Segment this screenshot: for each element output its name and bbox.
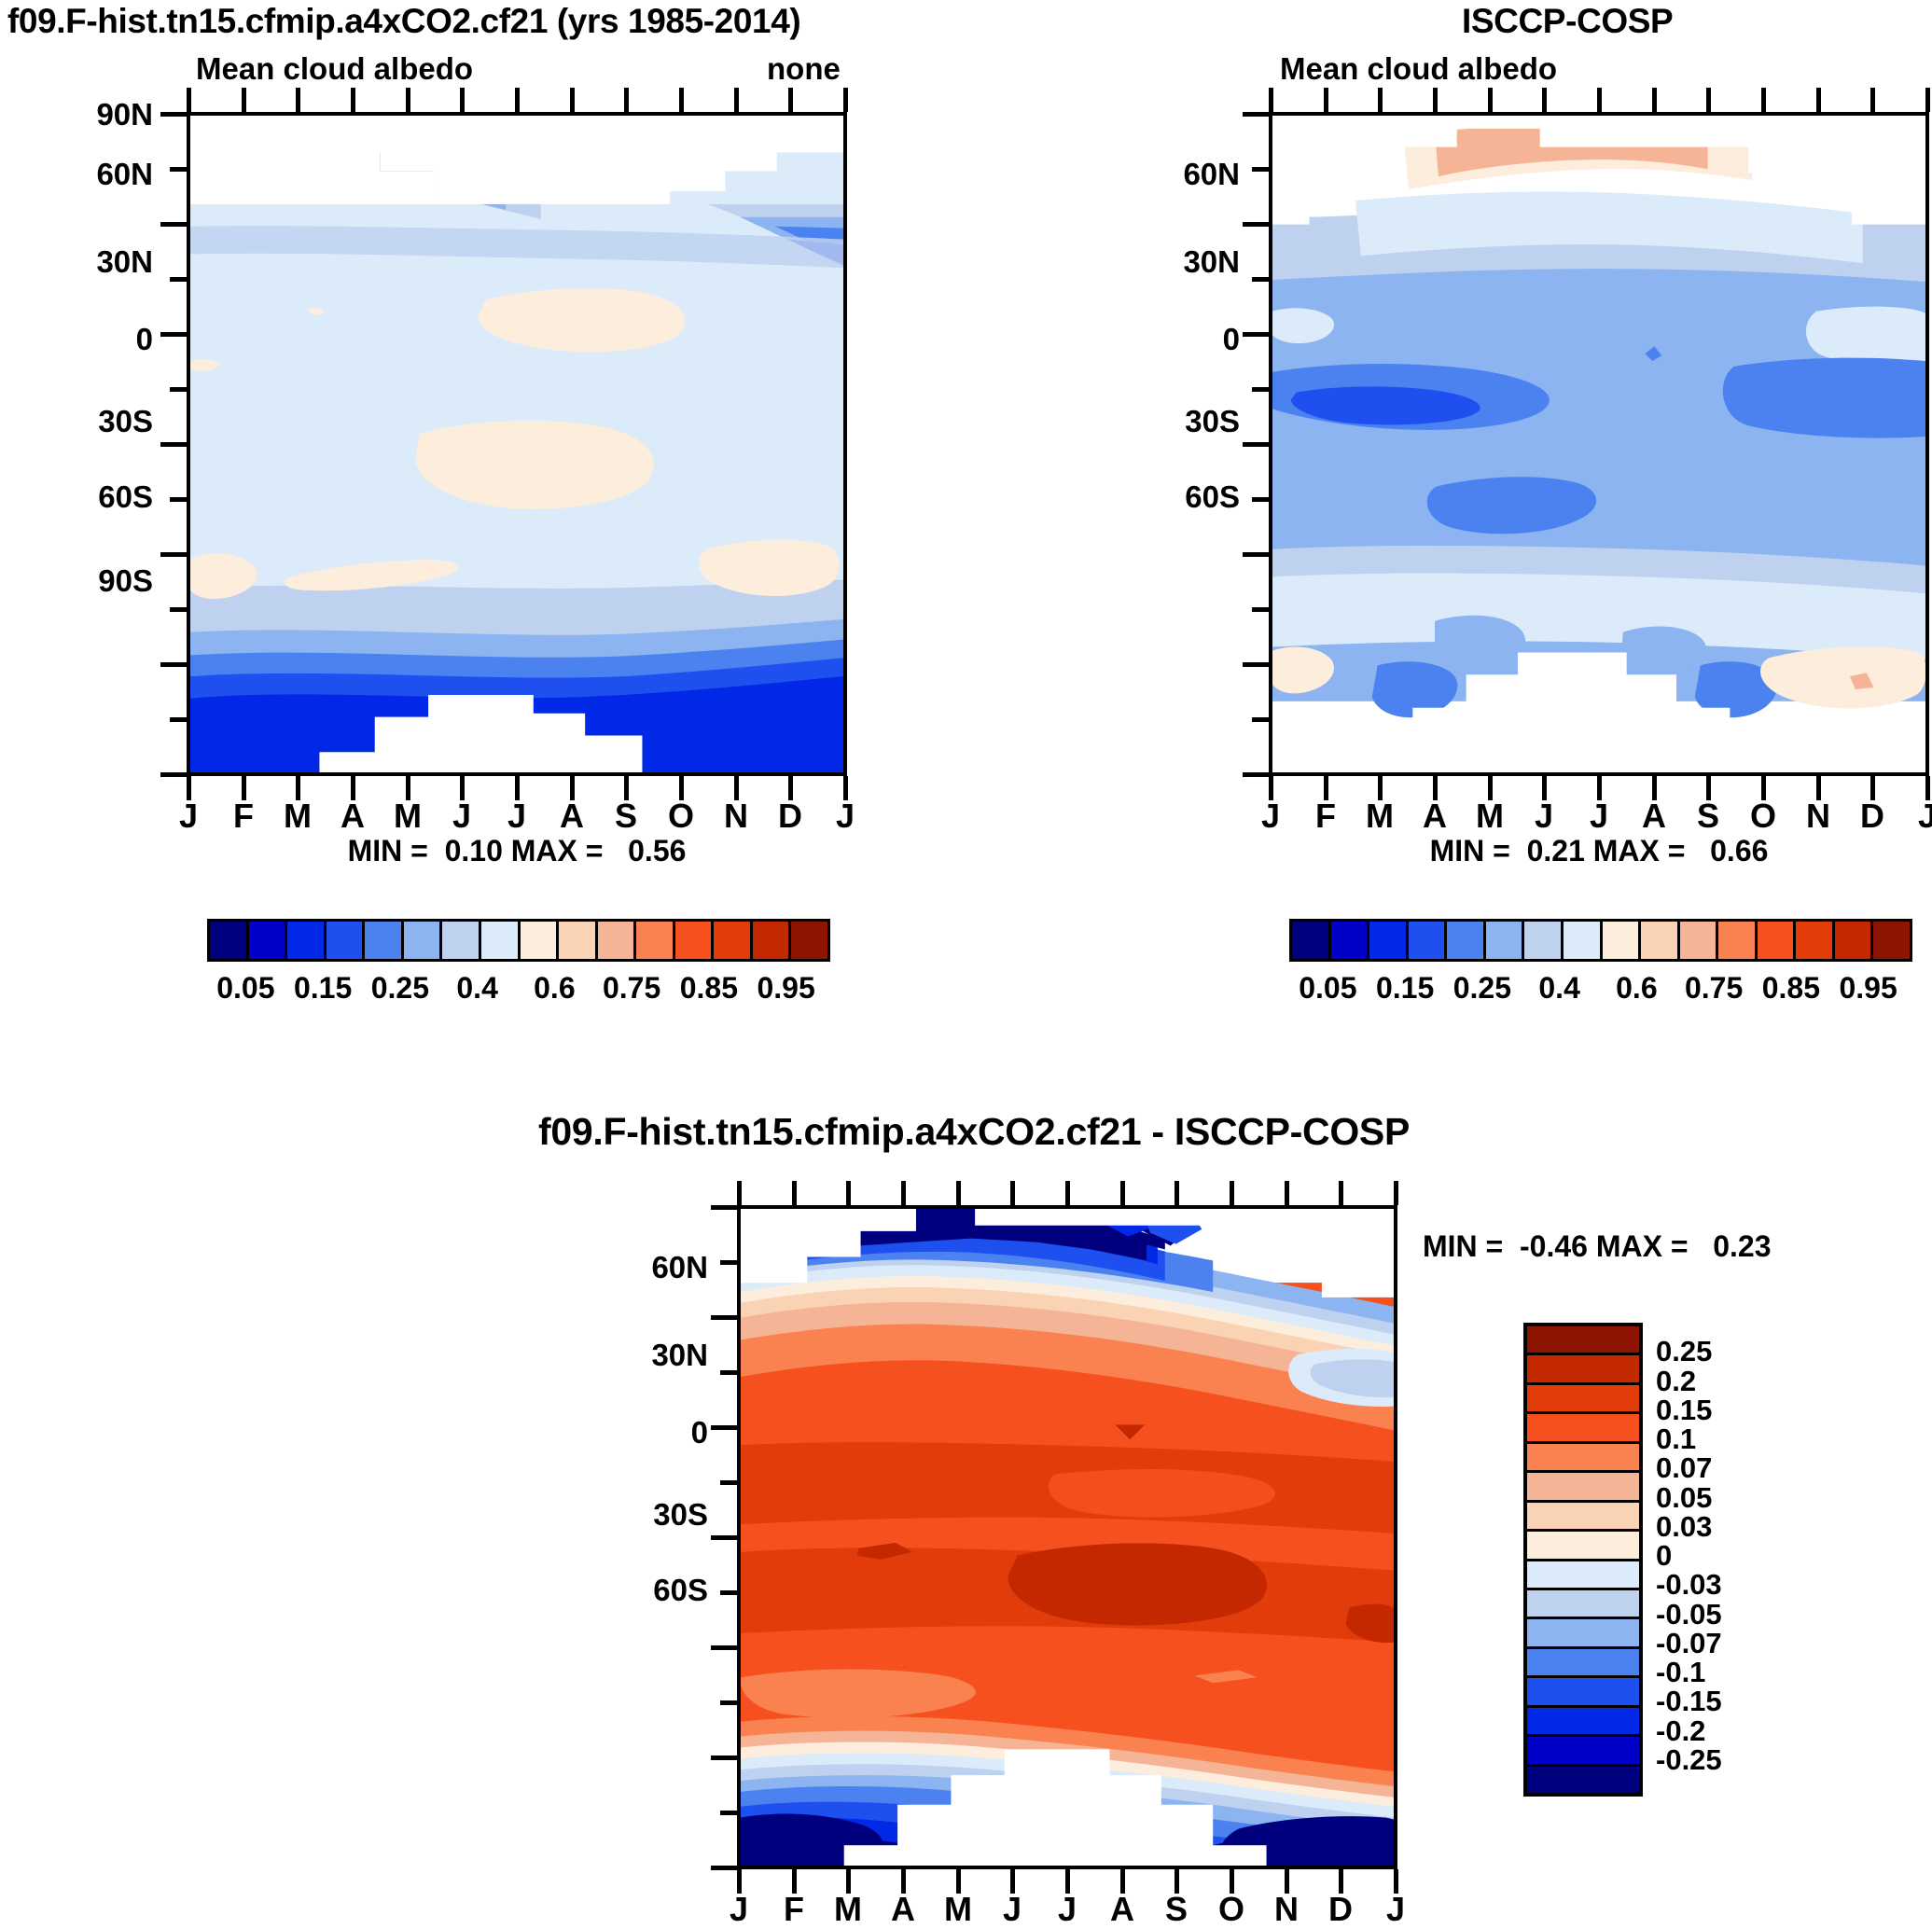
month-label: A xyxy=(1632,797,1676,836)
axis-tick xyxy=(460,88,465,112)
axis-tick xyxy=(792,1181,797,1205)
axis-tick xyxy=(1652,776,1657,800)
model-ylabel-90s: 90S xyxy=(37,563,153,599)
model-ylabel-30n: 30N xyxy=(37,244,153,280)
colorbar-tick-label: 0.15 xyxy=(294,971,352,1006)
colorbar-cell xyxy=(1527,1678,1639,1707)
colorbar-cell xyxy=(521,922,560,959)
axis-tick xyxy=(570,88,575,112)
axis-tick xyxy=(1870,88,1875,112)
obs-contour-canvas xyxy=(1272,116,1925,772)
month-label: O xyxy=(659,797,703,836)
colorbar-tick-label: 0.75 xyxy=(1685,971,1743,1006)
colorbar-cell xyxy=(1292,922,1331,959)
month-label: M xyxy=(275,797,320,836)
colorbar-cell xyxy=(1527,1532,1639,1561)
axis-tick xyxy=(170,167,187,172)
month-label: J xyxy=(494,797,539,836)
axis-tick xyxy=(296,88,300,112)
model-minmax-label: MIN = 0.10 MAX = 0.56 xyxy=(187,834,847,868)
colorbar-tick-label: 0.05 xyxy=(1299,971,1356,1006)
colorbar-cell xyxy=(287,922,327,959)
colorbar-cell xyxy=(1527,1737,1639,1766)
month-label: M xyxy=(826,1890,870,1929)
axis-tick xyxy=(901,1181,906,1205)
obs-minmax-label: MIN = 0.21 MAX = 0.66 xyxy=(1269,834,1929,868)
axis-tick xyxy=(1339,1869,1343,1894)
model-ylabel-60s: 60S xyxy=(37,479,153,515)
colorbar-cell xyxy=(598,922,637,959)
axis-tick xyxy=(1706,88,1711,112)
axis-tick xyxy=(1065,1869,1070,1894)
axis-tick xyxy=(1065,1181,1070,1205)
axis-tick xyxy=(843,776,848,800)
axis-tick xyxy=(1252,717,1269,722)
obs-panel-title: ISCCP-COSP xyxy=(1462,2,1673,41)
colorbar-tick-label: 0.4 xyxy=(1538,971,1579,1006)
colorbar-cell xyxy=(791,922,827,959)
colorbar-cell xyxy=(1331,922,1370,959)
axis-tick xyxy=(711,1866,737,1870)
axis-tick xyxy=(711,1645,737,1650)
colorbar-cell xyxy=(1527,1649,1639,1678)
colorbar-cell xyxy=(1527,1590,1639,1619)
axis-tick xyxy=(1488,776,1493,800)
axis-tick xyxy=(720,1480,737,1485)
month-label: J xyxy=(1577,797,1621,836)
colorbar-cell xyxy=(1527,1444,1639,1473)
axis-tick xyxy=(242,776,246,800)
axis-tick xyxy=(160,332,187,337)
axis-tick xyxy=(1174,1181,1179,1205)
axis-tick xyxy=(242,88,246,112)
colorbar-cell xyxy=(1835,922,1874,959)
axis-tick xyxy=(1243,662,1269,667)
axis-tick xyxy=(1252,607,1269,612)
colorbar-cell xyxy=(1527,1385,1639,1414)
axis-tick xyxy=(170,497,187,502)
axis-tick xyxy=(1542,88,1547,112)
month-label: O xyxy=(1741,797,1786,836)
difference-contour-canvas xyxy=(741,1209,1394,1866)
colorbar-cell xyxy=(1527,1619,1639,1648)
month-label: J xyxy=(990,1890,1035,1929)
colorbar-cell xyxy=(714,922,753,959)
axis-tick xyxy=(170,387,187,392)
colorbar-cell xyxy=(1527,1355,1639,1384)
axis-tick xyxy=(460,776,465,800)
month-label: O xyxy=(1209,1890,1254,1929)
axis-tick xyxy=(956,1869,961,1894)
axis-tick xyxy=(160,222,187,227)
axis-tick xyxy=(1010,1181,1015,1205)
axis-tick xyxy=(160,442,187,447)
axis-tick xyxy=(1230,1181,1234,1205)
axis-tick xyxy=(734,776,739,800)
diff-ylabel-30s: 30S xyxy=(592,1497,708,1533)
axis-tick xyxy=(737,1181,742,1205)
axis-tick xyxy=(1285,1181,1289,1205)
axis-tick xyxy=(737,1869,742,1894)
axis-tick xyxy=(160,662,187,667)
colorbar-tick-label: 0.05 xyxy=(216,971,274,1006)
axis-tick xyxy=(1394,1869,1398,1894)
axis-tick xyxy=(1324,88,1328,112)
axis-tick xyxy=(711,1315,737,1320)
colorbar-cell xyxy=(1447,922,1486,959)
colorbar-cell xyxy=(1641,922,1680,959)
month-label: D xyxy=(1318,1890,1363,1929)
month-label: A xyxy=(549,797,594,836)
colorbar-tick-label: 0.6 xyxy=(534,971,575,1006)
colorbar-tick-label: 0.85 xyxy=(1762,971,1820,1006)
axis-tick xyxy=(1243,112,1269,117)
colorbar-tick-label: 0.25 xyxy=(371,971,429,1006)
model-ylabel-60n: 60N xyxy=(37,157,153,192)
axis-tick xyxy=(406,776,410,800)
colorbar-cell xyxy=(636,922,675,959)
axis-tick xyxy=(720,1370,737,1375)
obs-colorbar[interactable] xyxy=(1289,919,1912,962)
difference-colorbar-labels: 0.250.20.150.10.070.050.030-0.03-0.05-0.… xyxy=(1656,1323,1824,1789)
axis-tick xyxy=(570,776,575,800)
axis-tick xyxy=(515,776,520,800)
colorbar-cell xyxy=(1524,922,1564,959)
difference-contour-plot[interactable] xyxy=(737,1205,1397,1869)
axis-tick xyxy=(1324,776,1328,800)
month-label: F xyxy=(771,1890,816,1929)
axis-tick xyxy=(788,88,793,112)
colorbar-tick-label: 0.95 xyxy=(1839,971,1897,1006)
axis-tick xyxy=(1542,776,1547,800)
colorbar-cell xyxy=(1527,1326,1639,1355)
diff-ylabel-60s: 60S xyxy=(592,1573,708,1608)
axis-tick xyxy=(711,1756,737,1760)
axis-tick xyxy=(846,1869,851,1894)
model-units-label: none xyxy=(767,51,841,87)
diff-ylabel-60n: 60N xyxy=(592,1250,708,1285)
axis-tick xyxy=(711,1425,737,1430)
axis-tick xyxy=(1652,88,1657,112)
month-label: N xyxy=(1264,1890,1309,1929)
month-label: M xyxy=(385,797,430,836)
month-label: M xyxy=(1467,797,1512,836)
model-contour-plot[interactable] xyxy=(187,112,847,776)
obs-colorbar-labels: 0.050.150.250.40.60.750.850.95 xyxy=(1289,971,1907,1012)
model-colorbar[interactable] xyxy=(207,919,830,962)
month-label: F xyxy=(221,797,266,836)
difference-colorbar[interactable] xyxy=(1523,1323,1643,1797)
colorbar-cell xyxy=(365,922,404,959)
obs-ylabel-0: 0 xyxy=(1124,322,1240,357)
obs-ylabel-30n: 30N xyxy=(1124,244,1240,280)
colorbar-cell xyxy=(1796,922,1835,959)
month-label: D xyxy=(768,797,813,836)
axis-tick xyxy=(956,1181,961,1205)
axis-tick xyxy=(1925,88,1930,112)
colorbar-cell xyxy=(1527,1503,1639,1532)
axis-tick xyxy=(1252,497,1269,502)
diff-minmax-label: MIN = -0.46 MAX = 0.23 xyxy=(1423,1229,1771,1264)
model-contour-canvas xyxy=(190,116,843,772)
axis-tick xyxy=(1010,1869,1015,1894)
axis-tick xyxy=(624,776,629,800)
colorbar-cell xyxy=(1527,1561,1639,1590)
axis-tick xyxy=(1378,776,1383,800)
axis-tick xyxy=(1925,776,1930,800)
axis-tick xyxy=(792,1869,797,1894)
colorbar-cell xyxy=(442,922,481,959)
axis-tick xyxy=(1120,1181,1125,1205)
axis-tick xyxy=(1761,88,1766,112)
colorbar-cell xyxy=(1527,1414,1639,1443)
colorbar-cell xyxy=(249,922,288,959)
colorbar-tick-label: 0.25 xyxy=(1453,971,1511,1006)
axis-tick xyxy=(170,277,187,282)
axis-tick xyxy=(711,1205,737,1210)
model-variable-label: Mean cloud albedo xyxy=(196,51,473,87)
axis-tick xyxy=(1269,88,1273,112)
colorbar-tick-label: 0.95 xyxy=(757,971,814,1006)
axis-tick xyxy=(788,776,793,800)
axis-tick xyxy=(1285,1869,1289,1894)
axis-tick xyxy=(1252,387,1269,392)
axis-tick xyxy=(1870,776,1875,800)
month-label: J xyxy=(1905,797,1932,836)
colorbar-cell xyxy=(1873,922,1910,959)
month-label: A xyxy=(330,797,375,836)
axis-tick xyxy=(1269,776,1273,800)
diff-ylabel-0: 0 xyxy=(592,1415,708,1450)
axis-tick xyxy=(720,1811,737,1815)
axis-tick xyxy=(846,1181,851,1205)
axis-tick xyxy=(720,1700,737,1705)
month-label: A xyxy=(1412,797,1457,836)
axis-tick xyxy=(1816,776,1821,800)
axis-tick xyxy=(843,88,848,112)
axis-tick xyxy=(1433,88,1438,112)
colorbar-cell xyxy=(327,922,366,959)
month-label: M xyxy=(1357,797,1402,836)
month-label: A xyxy=(881,1890,925,1929)
axis-tick xyxy=(160,112,187,117)
axis-tick xyxy=(351,88,355,112)
axis-tick xyxy=(1243,552,1269,557)
colorbar-cell xyxy=(559,922,598,959)
month-label: F xyxy=(1303,797,1348,836)
axis-tick xyxy=(679,776,684,800)
model-ylabel-90n: 90N xyxy=(37,97,153,132)
axis-tick xyxy=(160,772,187,777)
colorbar-cell xyxy=(1564,922,1603,959)
colorbar-tick-label: -0.25 xyxy=(1656,1743,1722,1777)
axis-tick xyxy=(1761,776,1766,800)
axis-tick xyxy=(1243,222,1269,227)
colorbar-tick-label: 0.75 xyxy=(603,971,660,1006)
obs-contour-plot[interactable] xyxy=(1269,112,1929,776)
colorbar-cell xyxy=(1603,922,1642,959)
colorbar-tick-label: 0.4 xyxy=(456,971,497,1006)
colorbar-cell xyxy=(1527,1708,1639,1737)
obs-ylabel-60s: 60S xyxy=(1124,479,1240,515)
axis-tick xyxy=(1394,1181,1398,1205)
axis-tick xyxy=(1230,1869,1234,1894)
axis-tick xyxy=(515,88,520,112)
month-label: M xyxy=(936,1890,980,1929)
axis-tick xyxy=(734,88,739,112)
axis-tick xyxy=(711,1535,737,1540)
axis-tick xyxy=(1378,88,1383,112)
month-label: S xyxy=(1686,797,1730,836)
colorbar-cell xyxy=(1527,1473,1639,1502)
month-label: J xyxy=(1045,1890,1090,1929)
colorbar-cell xyxy=(1718,922,1758,959)
axis-tick xyxy=(720,1590,737,1595)
model-panel-title: f09.F-hist.tn15.cfmip.a4xCO2.cf21 (yrs 1… xyxy=(7,2,800,41)
month-label: J xyxy=(439,797,484,836)
axis-tick xyxy=(1243,332,1269,337)
axis-tick xyxy=(901,1869,906,1894)
axis-tick xyxy=(1433,776,1438,800)
colorbar-tick-label: 0.6 xyxy=(1616,971,1657,1006)
axis-tick xyxy=(187,88,191,112)
axis-tick xyxy=(1243,772,1269,777)
colorbar-cell xyxy=(404,922,443,959)
axis-tick xyxy=(170,607,187,612)
month-label: J xyxy=(1522,797,1566,836)
month-label: J xyxy=(716,1890,761,1929)
month-label: N xyxy=(1796,797,1841,836)
colorbar-cell xyxy=(1680,922,1719,959)
diff-ylabel-30n: 30N xyxy=(592,1338,708,1373)
colorbar-cell xyxy=(1409,922,1448,959)
colorbar-tick-label: 0.15 xyxy=(1376,971,1434,1006)
obs-variable-label: Mean cloud albedo xyxy=(1280,51,1557,87)
axis-tick xyxy=(1174,1869,1179,1894)
colorbar-cell xyxy=(210,922,249,959)
axis-tick xyxy=(351,776,355,800)
month-label: S xyxy=(604,797,648,836)
axis-tick xyxy=(160,552,187,557)
colorbar-cell xyxy=(753,922,792,959)
axis-tick xyxy=(1488,88,1493,112)
month-label: S xyxy=(1154,1890,1199,1929)
axis-tick xyxy=(406,88,410,112)
month-label: J xyxy=(823,797,868,836)
model-colorbar-labels: 0.050.150.250.40.60.750.850.95 xyxy=(207,971,825,1012)
axis-tick xyxy=(1597,88,1602,112)
axis-tick xyxy=(296,776,300,800)
model-ylabel-30s: 30S xyxy=(37,404,153,439)
colorbar-cell xyxy=(1369,922,1409,959)
month-label: N xyxy=(714,797,758,836)
axis-tick xyxy=(624,88,629,112)
colorbar-tick-label: 0.85 xyxy=(680,971,738,1006)
diff-panel-title: f09.F-hist.tn15.cfmip.a4xCO2.cf21 - ISCC… xyxy=(538,1110,1410,1154)
month-label: J xyxy=(1373,1890,1418,1929)
colorbar-cell xyxy=(1758,922,1797,959)
month-label: J xyxy=(1248,797,1293,836)
axis-tick xyxy=(1706,776,1711,800)
axis-tick xyxy=(1252,167,1269,172)
colorbar-cell xyxy=(1527,1767,1639,1793)
axis-tick xyxy=(679,88,684,112)
colorbar-cell xyxy=(1486,922,1525,959)
axis-tick xyxy=(720,1260,737,1265)
axis-tick xyxy=(1597,776,1602,800)
month-label: A xyxy=(1100,1890,1145,1929)
month-label: J xyxy=(166,797,211,836)
obs-ylabel-60n: 60N xyxy=(1124,157,1240,192)
colorbar-cell xyxy=(675,922,715,959)
axis-tick xyxy=(1120,1869,1125,1894)
colorbar-cell xyxy=(481,922,521,959)
axis-tick xyxy=(1339,1181,1343,1205)
model-ylabel-0: 0 xyxy=(37,322,153,357)
axis-tick xyxy=(170,717,187,722)
axis-tick xyxy=(1252,277,1269,282)
axis-tick xyxy=(1816,88,1821,112)
obs-ylabel-30s: 30S xyxy=(1124,404,1240,439)
month-label: D xyxy=(1850,797,1895,836)
axis-tick xyxy=(1243,442,1269,447)
axis-tick xyxy=(187,776,191,800)
